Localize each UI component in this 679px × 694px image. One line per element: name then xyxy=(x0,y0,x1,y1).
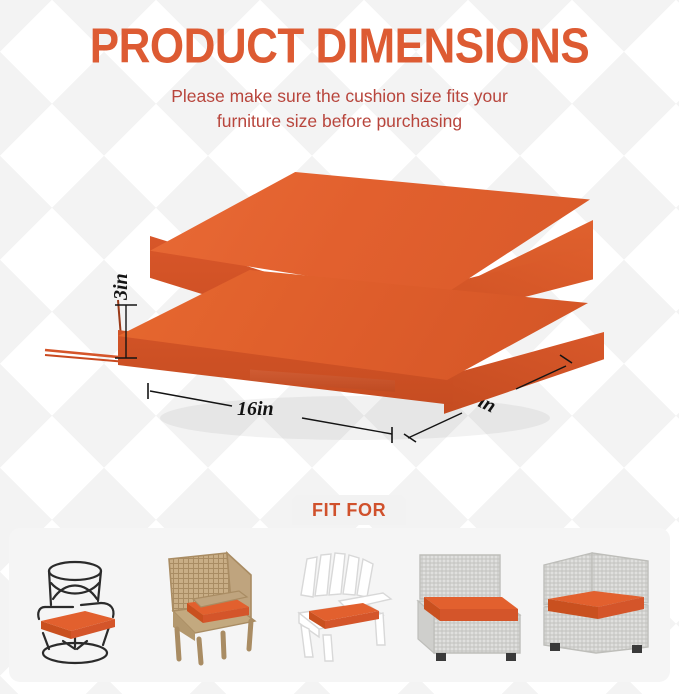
fit-for-item-wicker-armchair[interactable] xyxy=(151,541,271,669)
sectional-armless-icon xyxy=(408,541,528,669)
dimension-line-height xyxy=(115,305,137,358)
fit-for-item-adirondack-chair[interactable] xyxy=(279,541,399,669)
adirondack-chair-icon xyxy=(279,541,399,669)
swivel-chair-icon xyxy=(23,541,143,669)
fit-for-gallery xyxy=(9,528,670,682)
dimension-line-width xyxy=(148,383,392,443)
dimension-annotations xyxy=(0,0,679,500)
wicker-armchair-icon xyxy=(151,541,271,669)
fit-for-item-swivel-chair[interactable] xyxy=(23,541,143,669)
fit-for-item-corner-sectional[interactable] xyxy=(536,541,656,669)
dimension-line-depth xyxy=(404,355,572,442)
sectional-corner-icon xyxy=(536,541,656,669)
fit-for-item-armless-sectional[interactable] xyxy=(408,541,528,669)
